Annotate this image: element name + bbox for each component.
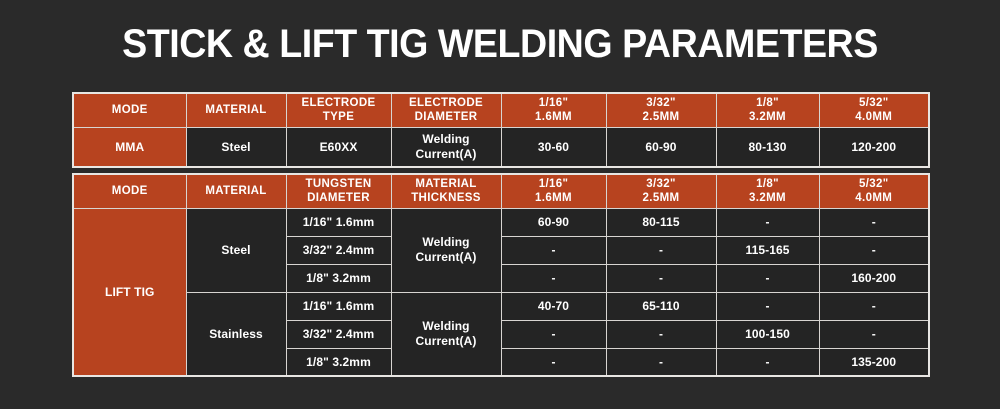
header-size-5-32-fraction: 5/32" — [822, 177, 927, 191]
header-mode-line1: MODE — [76, 184, 184, 198]
header-material-thickness-line1: MATERIAL — [394, 177, 499, 191]
table-header-row: MODE MATERIAL ELECTRODE TYPE ELECTRODE D… — [73, 93, 929, 127]
cell-welding-current-line1: Welding — [394, 132, 499, 147]
cell-welding-current-line1: Welding — [394, 235, 499, 250]
table-row: Stainless 1/16" 1.6mm Welding Current(A)… — [73, 292, 929, 320]
header-size-1-16: 1/16" 1.6mm — [501, 93, 606, 127]
table-row: LIFT TIG Steel 1/16" 1.6mm Welding Curre… — [73, 208, 929, 236]
cell-current-1-8: 80-130 — [716, 127, 819, 167]
header-size-5-32: 5/32" 4.0mm — [819, 174, 929, 208]
header-size-1-16-metric: 1.6mm — [504, 191, 604, 205]
cell-current-1-16: - — [501, 264, 606, 292]
header-size-1-8: 1/8" 3.2mm — [716, 93, 819, 127]
cell-material-stainless: Stainless — [186, 292, 286, 376]
header-size-1-8-metric: 3.2mm — [719, 110, 817, 124]
cell-current-3-32: 80-115 — [606, 208, 716, 236]
header-size-5-32-metric: 4.0mm — [822, 191, 927, 205]
header-size-3-32-metric: 2.5mm — [609, 191, 714, 205]
cell-material-steel: Steel — [186, 208, 286, 292]
cell-welding-current-line2: Current(A) — [394, 334, 499, 349]
cell-tungsten-diameter: 1/8" 3.2mm — [286, 264, 391, 292]
cell-tungsten-diameter: 1/16" 1.6mm — [286, 292, 391, 320]
cell-current-3-32: - — [606, 348, 716, 376]
header-mode: MODE — [73, 174, 186, 208]
header-size-3-32: 3/32" 2.5mm — [606, 93, 716, 127]
cell-current-1-16: 60-90 — [501, 208, 606, 236]
header-size-1-16-metric: 1.6mm — [504, 110, 604, 124]
header-size-1-8-fraction: 1/8" — [719, 96, 817, 110]
cell-current-1-8: 115-165 — [716, 236, 819, 264]
header-size-3-32-fraction: 3/32" — [609, 96, 714, 110]
cell-tungsten-diameter: 1/8" 3.2mm — [286, 348, 391, 376]
header-material-thickness: MATERIAL THICKNESS — [391, 174, 501, 208]
header-size-5-32: 5/32" 4.0mm — [819, 93, 929, 127]
cell-welding-current-line1: Welding — [394, 319, 499, 334]
poster-root: STICK & LIFT TIG WELDING PARAMETERS MODE… — [0, 0, 1000, 409]
header-size-1-8: 1/8" 3.2mm — [716, 174, 819, 208]
cell-current-1-8: - — [716, 292, 819, 320]
cell-current-3-32: - — [606, 320, 716, 348]
cell-material-thickness-stainless: Welding Current(A) — [391, 292, 501, 376]
header-size-1-16: 1/16" 1.6mm — [501, 174, 606, 208]
cell-current-5-32: - — [819, 236, 929, 264]
cell-mode-mma: MMA — [73, 127, 186, 167]
cell-current-3-32: - — [606, 236, 716, 264]
cell-current-3-32: - — [606, 264, 716, 292]
cell-current-5-32: 160-200 — [819, 264, 929, 292]
header-material: MATERIAL — [186, 93, 286, 127]
cell-current-3-32: 60-90 — [606, 127, 716, 167]
cell-current-1-16: - — [501, 348, 606, 376]
cell-current-5-32: - — [819, 208, 929, 236]
cell-current-1-16: 30-60 — [501, 127, 606, 167]
cell-tungsten-diameter: 3/32" 2.4mm — [286, 320, 391, 348]
header-tungsten-diameter: TUNGSTEN DIAMETER — [286, 174, 391, 208]
cell-electrode-diameter-value: Welding Current(A) — [391, 127, 501, 167]
cell-current-5-32: 135-200 — [819, 348, 929, 376]
header-material-line1: MATERIAL — [189, 184, 284, 198]
header-electrode-diameter-line2: DIAMETER — [394, 110, 499, 124]
cell-current-1-16: 40-70 — [501, 292, 606, 320]
cell-current-5-32: - — [819, 292, 929, 320]
header-size-1-8-metric: 3.2mm — [719, 191, 817, 205]
cell-welding-current-line2: Current(A) — [394, 147, 499, 162]
header-tungsten-diameter-line2: DIAMETER — [289, 191, 389, 205]
header-electrode-type-line1: ELECTRODE — [289, 96, 389, 110]
header-size-3-32-metric: 2.5mm — [609, 110, 714, 124]
table-row: MMA Steel E60XX Welding Current(A) 30-60… — [73, 127, 929, 167]
cell-current-1-8: - — [716, 208, 819, 236]
cell-mode-lift-tig: LIFT TIG — [73, 208, 186, 376]
header-size-3-32-fraction: 3/32" — [609, 177, 714, 191]
table-header-row: MODE MATERIAL TUNGSTEN DIAMETER MATERIAL… — [73, 174, 929, 208]
cell-current-1-8: - — [716, 264, 819, 292]
header-size-1-16-fraction: 1/16" — [504, 96, 604, 110]
cell-current-5-32: 120-200 — [819, 127, 929, 167]
cell-current-1-8: - — [716, 348, 819, 376]
header-mode: MODE — [73, 93, 186, 127]
header-material: MATERIAL — [186, 174, 286, 208]
cell-current-5-32: - — [819, 320, 929, 348]
header-material-line1: MATERIAL — [189, 103, 284, 117]
header-mode-line1: MODE — [76, 103, 184, 117]
header-size-5-32-fraction: 5/32" — [822, 96, 927, 110]
cell-welding-current-line2: Current(A) — [394, 250, 499, 265]
page-title: STICK & LIFT TIG WELDING PARAMETERS — [30, 22, 970, 67]
lift-tig-parameters-table: MODE MATERIAL TUNGSTEN DIAMETER MATERIAL… — [72, 173, 930, 377]
cell-current-1-8: 100-150 — [716, 320, 819, 348]
mma-parameters-table: MODE MATERIAL ELECTRODE TYPE ELECTRODE D… — [72, 92, 930, 168]
cell-current-3-32: 65-110 — [606, 292, 716, 320]
header-size-5-32-metric: 4.0mm — [822, 110, 927, 124]
header-material-thickness-line2: THICKNESS — [394, 191, 499, 205]
header-size-3-32: 3/32" 2.5mm — [606, 174, 716, 208]
header-electrode-diameter-line1: ELECTRODE — [394, 96, 499, 110]
cell-current-1-16: - — [501, 236, 606, 264]
header-size-1-16-fraction: 1/16" — [504, 177, 604, 191]
cell-material-steel: Steel — [186, 127, 286, 167]
header-tungsten-diameter-line1: TUNGSTEN — [289, 177, 389, 191]
header-electrode-type: ELECTRODE TYPE — [286, 93, 391, 127]
cell-material-thickness-steel: Welding Current(A) — [391, 208, 501, 292]
header-electrode-diameter: ELECTRODE DIAMETER — [391, 93, 501, 127]
cell-electrode-type-value: E60XX — [286, 127, 391, 167]
cell-tungsten-diameter: 1/16" 1.6mm — [286, 208, 391, 236]
header-size-1-8-fraction: 1/8" — [719, 177, 817, 191]
cell-tungsten-diameter: 3/32" 2.4mm — [286, 236, 391, 264]
header-electrode-type-line2: TYPE — [289, 110, 389, 124]
cell-current-1-16: - — [501, 320, 606, 348]
